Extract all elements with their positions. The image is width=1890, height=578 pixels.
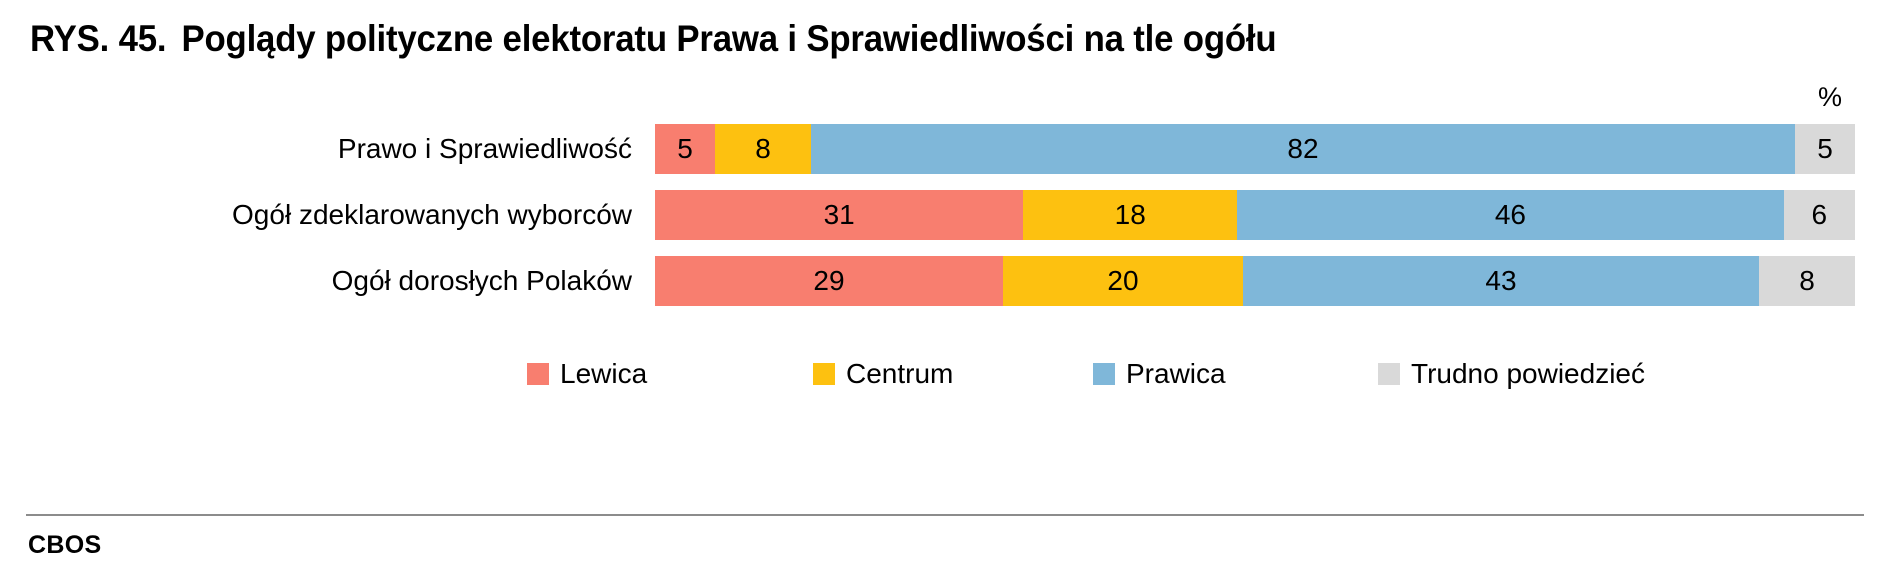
category-label: Ogół dorosłych Polaków <box>0 256 632 306</box>
legend-swatch-icon <box>1093 363 1115 385</box>
legend-item-lewica[interactable]: Lewica <box>527 352 647 396</box>
bar-segment-value: 5 <box>1817 135 1833 163</box>
bar-segment-value: 18 <box>1115 201 1146 229</box>
chart-plot-area: Prawo i Sprawiedliwość 5 8 82 5 Ogół zde… <box>0 118 1890 328</box>
bar-segment-value: 8 <box>755 135 771 163</box>
legend-item-trudno-powiedziec[interactable]: Trudno powiedzieć <box>1378 352 1645 396</box>
stacked-bar: 31 18 46 6 <box>655 190 1855 240</box>
legend-item-centrum[interactable]: Centrum <box>813 352 953 396</box>
bar-segment-value: 20 <box>1107 267 1138 295</box>
bar-segment[interactable]: 8 <box>1759 256 1855 306</box>
legend-swatch-icon <box>1378 363 1400 385</box>
bar-segment[interactable]: 31 <box>655 190 1023 240</box>
bar-segment[interactable]: 18 <box>1023 190 1237 240</box>
bar-segment[interactable]: 46 <box>1237 190 1784 240</box>
category-label: Ogół zdeklarowanych wyborców <box>0 190 632 240</box>
legend-item-label: Lewica <box>560 359 647 389</box>
figure-container: RYS. 45.Poglądy polityczne elektoratu Pr… <box>0 0 1890 578</box>
stacked-bar: 5 8 82 5 <box>655 124 1855 174</box>
chart-row: Ogół dorosłych Polaków 29 20 43 8 <box>0 256 1890 306</box>
chart-row: Ogół zdeklarowanych wyborców 31 18 46 6 <box>0 190 1890 240</box>
bar-segment-value: 8 <box>1799 267 1815 295</box>
footer-divider <box>26 514 1864 516</box>
chart-row: Prawo i Sprawiedliwość 5 8 82 5 <box>0 124 1890 174</box>
percent-axis-label: % <box>1818 84 1842 111</box>
bar-segment-value: 6 <box>1812 201 1828 229</box>
stacked-bar: 29 20 43 8 <box>655 256 1855 306</box>
bar-segment[interactable]: 29 <box>655 256 1003 306</box>
bar-segment[interactable]: 6 <box>1784 190 1855 240</box>
figure-title-text: Poglądy polityczne elektoratu Prawa i Sp… <box>181 18 1276 59</box>
legend-item-label: Centrum <box>846 359 953 389</box>
bar-segment-value: 82 <box>1287 135 1318 163</box>
category-label: Prawo i Sprawiedliwość <box>0 124 632 174</box>
bar-segment[interactable]: 5 <box>1795 124 1855 174</box>
bar-segment[interactable]: 5 <box>655 124 715 174</box>
legend-item-prawica[interactable]: Prawica <box>1093 352 1226 396</box>
bar-segment[interactable]: 43 <box>1243 256 1759 306</box>
bar-segment-value: 29 <box>813 267 844 295</box>
bar-segment-value: 5 <box>677 135 693 163</box>
legend-item-label: Trudno powiedzieć <box>1411 359 1645 389</box>
source-label: CBOS <box>28 531 101 559</box>
legend-item-label: Prawica <box>1126 359 1226 389</box>
bar-segment-value: 31 <box>824 201 855 229</box>
figure-number: RYS. 45. <box>30 18 166 59</box>
bar-segment[interactable]: 20 <box>1003 256 1243 306</box>
legend-swatch-icon <box>813 363 835 385</box>
page-title: RYS. 45.Poglądy polityczne elektoratu Pr… <box>30 16 1750 62</box>
bar-segment-value: 43 <box>1485 267 1516 295</box>
bar-segment[interactable]: 82 <box>811 124 1795 174</box>
bar-segment[interactable]: 8 <box>715 124 811 174</box>
bar-segment-value: 46 <box>1495 201 1526 229</box>
legend-swatch-icon <box>527 363 549 385</box>
chart-legend: Lewica Centrum Prawica Trudno powiedzieć <box>0 352 1890 396</box>
